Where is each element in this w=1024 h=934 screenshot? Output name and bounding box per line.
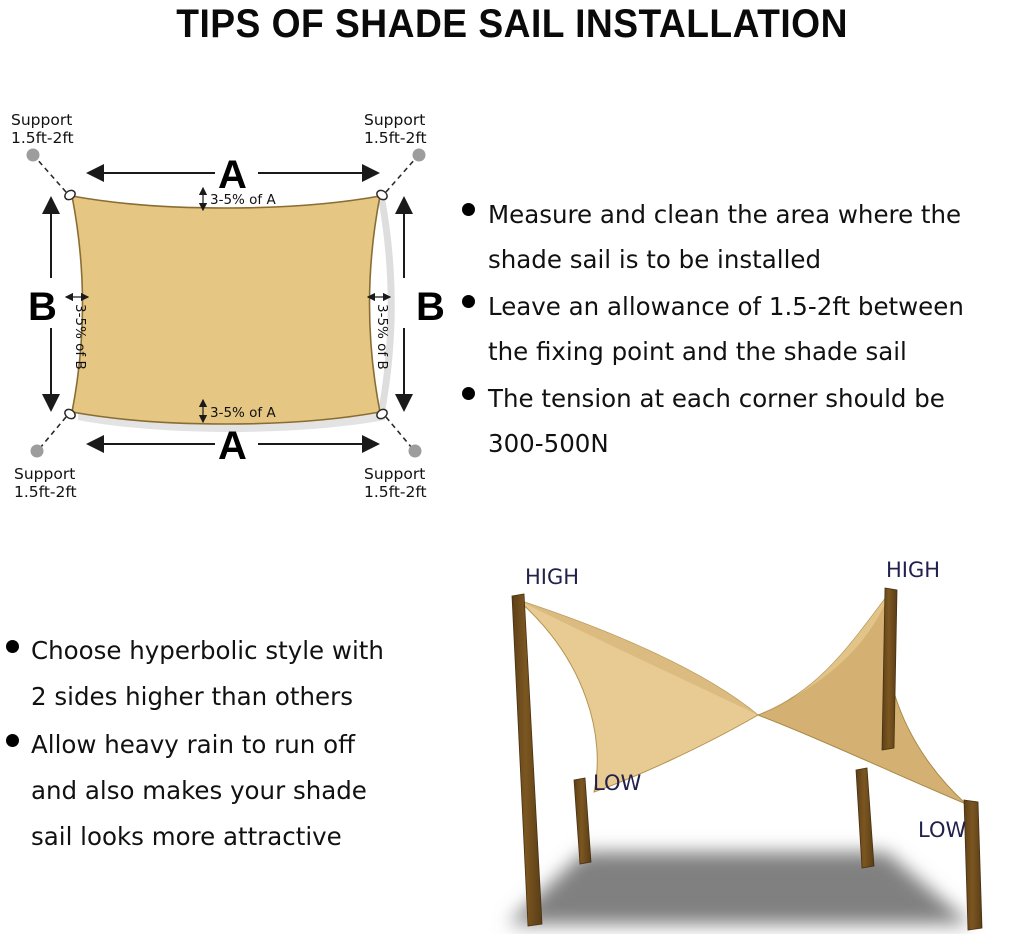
- support-label-line2: 1.5ft-2ft: [364, 129, 427, 147]
- label-high-right: HIGH: [886, 558, 940, 582]
- bullet-dot-icon: [462, 387, 475, 400]
- post-high-right: [882, 588, 897, 750]
- dimension-b-right: B: [404, 198, 445, 410]
- dimension-b-label: B: [416, 285, 445, 329]
- shade-sail-shape: [72, 196, 380, 424]
- list-item-label: Leave an allowance of 1.5-2ft between th…: [488, 284, 964, 374]
- support-bottom-left: Support 1.5ft-2ft: [14, 407, 77, 501]
- support-label-line2: 1.5ft-2ft: [364, 483, 427, 501]
- title-bar: TIPS OF SHADE SAIL INSTALLATION: [0, 0, 1024, 48]
- list-item: Choose hyperbolic style with 2 sides hig…: [6, 628, 458, 720]
- bullet-dot-icon: [462, 295, 475, 308]
- support-label-line1: Support: [364, 111, 425, 129]
- rectangular-sail-diagram: Support 1.5ft-2ft Support 1.5ft-2ft Supp…: [0, 100, 470, 520]
- hyperbolic-sail-diagram: HIGH HIGH LOW LOW: [466, 552, 1024, 934]
- curvature-b-left: 3-5% of B: [66, 297, 88, 370]
- post-low-right: [964, 800, 982, 930]
- curvature-a-label: 3-5% of A: [210, 192, 276, 208]
- support-label-line1: Support: [14, 465, 75, 483]
- support-dot: [27, 149, 40, 162]
- list-item: Leave an allowance of 1.5-2ft between th…: [462, 284, 1024, 374]
- dimension-a-label: A: [218, 153, 247, 197]
- label-low-left: LOW: [593, 771, 641, 795]
- post-high-left: [512, 594, 542, 926]
- list-item: Measure and clean the area where the sha…: [462, 192, 1024, 282]
- support-label-line1: Support: [364, 465, 425, 483]
- bullet-dot-icon: [6, 734, 19, 747]
- bullet-dot-icon: [6, 640, 19, 653]
- support-dot: [31, 445, 44, 458]
- support-top-left: Support 1.5ft-2ft: [11, 111, 77, 202]
- support-top-right: Support 1.5ft-2ft: [364, 111, 427, 202]
- list-item-label: Choose hyperbolic style with 2 sides hig…: [31, 628, 384, 720]
- dimension-a-bottom: A: [88, 424, 378, 468]
- post-low-left: [574, 778, 591, 864]
- label-high-left: HIGH: [525, 565, 579, 589]
- list-item: Allow heavy rain to run off and also mak…: [6, 722, 458, 860]
- label-low-right: LOW: [918, 818, 966, 842]
- support-label-line2: 1.5ft-2ft: [14, 483, 77, 501]
- dimension-a-top: A: [88, 153, 378, 197]
- list-item-label: Allow heavy rain to run off and also mak…: [31, 722, 367, 860]
- tips-list-top: Measure and clean the area where the sha…: [462, 192, 1024, 468]
- dimension-b-label: B: [28, 285, 57, 329]
- dimension-b-left: B: [28, 198, 57, 410]
- curvature-b-label: 3-5% of B: [374, 304, 390, 370]
- list-item: The tension at each corner should be 300…: [462, 376, 1024, 466]
- support-label-line1: Support: [11, 111, 72, 129]
- support-dot: [413, 149, 426, 162]
- curvature-a-top: 3-5% of A: [203, 188, 276, 210]
- support-label-line2: 1.5ft-2ft: [11, 129, 74, 147]
- support-dot: [409, 445, 422, 458]
- page-title: TIPS OF SHADE SAIL INSTALLATION: [176, 4, 848, 44]
- tips-list-bottom: Choose hyperbolic style with 2 sides hig…: [6, 628, 458, 862]
- curvature-b-label: 3-5% of B: [72, 304, 88, 370]
- list-item-label: Measure and clean the area where the sha…: [488, 192, 961, 282]
- ground-shadow: [508, 852, 971, 924]
- dimension-a-label: A: [218, 424, 247, 468]
- curvature-a-label: 3-5% of A: [210, 405, 276, 421]
- list-item-label: The tension at each corner should be 300…: [488, 376, 945, 466]
- bullet-dot-icon: [462, 203, 475, 216]
